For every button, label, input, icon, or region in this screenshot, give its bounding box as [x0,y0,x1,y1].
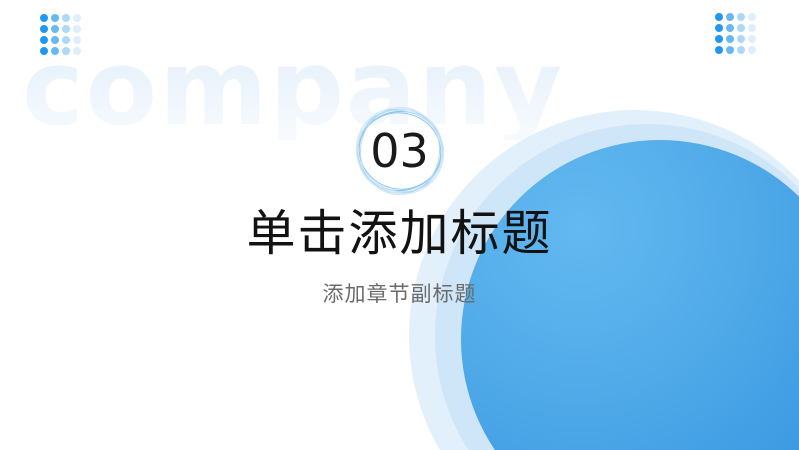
section-number-badge: 03 [346,108,454,194]
slide-canvas: company [0,0,799,450]
slide-content: 03 单击添加标题 添加章节副标题 [0,0,799,308]
section-number: 03 [346,108,454,194]
page-title: 单击添加标题 [0,206,799,262]
page-subtitle: 添加章节副标题 [0,278,799,308]
